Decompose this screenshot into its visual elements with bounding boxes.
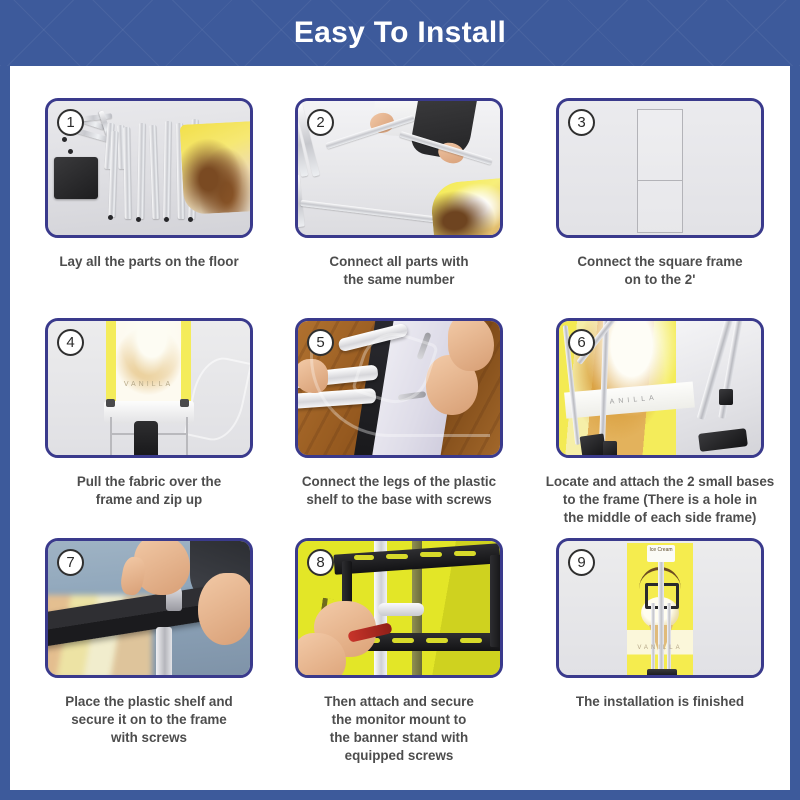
hand: [198, 573, 253, 645]
step-5-caption: Connect the legs of the plastic shelf to…: [274, 473, 524, 509]
frame-leg: [110, 417, 112, 458]
carry-case: [54, 157, 98, 199]
watermark: [184, 353, 252, 446]
step-6-image: VANILLA 6: [556, 318, 764, 458]
banner-fabric: [180, 121, 253, 215]
base-foot: [603, 441, 617, 458]
center-rod: [658, 555, 664, 678]
pole-tip: [62, 137, 67, 142]
step-3: 3 Connect the square frame on to the 2': [524, 98, 796, 318]
step-8-badge: 8: [307, 549, 334, 576]
mount-slot: [426, 638, 448, 643]
crossbar-bracket: [378, 603, 424, 616]
step-1-image: 1: [45, 98, 253, 238]
frame-lower-section: [637, 180, 683, 233]
frame-pole: [300, 200, 450, 224]
fabric-clip: [180, 399, 189, 407]
mount-right-arm: [490, 555, 502, 647]
step-8-caption: Then attach and secure the monitor mount…: [274, 693, 524, 765]
step-7-caption: Place the plastic shelf and secure it on…: [24, 693, 274, 747]
step-1-badge: 1: [57, 109, 84, 136]
step-5: 5 Connect the legs of the plastic shelf …: [274, 318, 524, 538]
pole-tip: [68, 149, 73, 154]
step-9: Ice Cream VANILLA 9 The installation is …: [524, 538, 796, 778]
step-5-image: 5: [295, 318, 503, 458]
base-foot: [719, 389, 733, 405]
frame-upper-section: [637, 109, 683, 181]
poster-header: Easy To Install: [0, 0, 800, 66]
step-4-badge: 4: [57, 329, 84, 356]
step-1: 1 Lay all the parts on the floor: [24, 98, 274, 318]
mount-slot: [386, 554, 408, 559]
base-foot: [647, 669, 677, 677]
step-8-image: 8: [295, 538, 503, 678]
step-2-image: 2: [295, 98, 503, 238]
frame-rod: [667, 603, 671, 678]
step-9-badge: 9: [568, 549, 595, 576]
ice-cream-topper-sign: Ice Cream: [647, 545, 675, 562]
frame-leg: [186, 417, 188, 458]
pole: [123, 127, 132, 219]
step-9-caption: The installation is finished: [535, 693, 785, 711]
step-2: 2 Connect all parts with the same number: [274, 98, 524, 318]
frame-tube: [156, 627, 172, 678]
step-3-image: 3: [556, 98, 764, 238]
banner-graphic: [106, 318, 191, 401]
steps-grid: 1 Lay all the parts on the floor: [10, 66, 790, 790]
step-7: 7 Place the plastic shelf and secure it …: [24, 538, 274, 778]
banner-brand-text: VANILLA: [106, 381, 191, 388]
pole: [163, 121, 172, 219]
mount-slot: [454, 551, 476, 556]
step-4-caption: Pull the fabric over the frame and zip u…: [24, 473, 274, 509]
poster-root: Easy To Install: [0, 0, 800, 800]
step-4-image: VANILLA 4: [45, 318, 253, 458]
frame-rod: [651, 603, 655, 678]
banner-fabric: [429, 178, 503, 238]
step-2-caption: Connect all parts with the same number: [274, 253, 524, 289]
step-6-badge: 6: [568, 329, 595, 356]
step-4: VANILLA 4 Pull the fabric over the frame…: [24, 318, 274, 538]
step-5-badge: 5: [307, 329, 334, 356]
pole: [149, 125, 159, 219]
pole-tip: [136, 217, 141, 222]
mount-slot: [420, 552, 442, 557]
step-9-image: Ice Cream VANILLA 9: [556, 538, 764, 678]
step-3-caption: Connect the square frame on to the 2': [535, 253, 785, 289]
step-7-image: 7: [45, 538, 253, 678]
pole: [137, 123, 146, 219]
fabric-clip: [106, 399, 115, 407]
mount-slot: [354, 555, 374, 560]
step-6: VANILLA 6 Locate and attach the 2 small …: [524, 318, 796, 538]
step-2-badge: 2: [307, 109, 334, 136]
pole-tip: [108, 215, 113, 220]
mount-slot: [392, 638, 414, 643]
step-1-caption: Lay all the parts on the floor: [24, 253, 274, 271]
step-7-badge: 7: [57, 549, 84, 576]
content-sheet: 1 Lay all the parts on the floor: [10, 66, 790, 790]
step-6-caption: Locate and attach the 2 small bases to t…: [524, 473, 796, 527]
mount-slot: [460, 638, 482, 643]
person-legs: [134, 421, 158, 458]
pole-tip: [188, 217, 193, 222]
step-3-badge: 3: [568, 109, 595, 136]
banner-brand-text: VANILLA: [627, 645, 693, 651]
page-title: Easy To Install: [294, 18, 506, 48]
finger: [119, 555, 147, 596]
step-8: 8 Then attach and secure the monitor mou…: [274, 538, 524, 778]
pole-tip: [164, 217, 169, 222]
